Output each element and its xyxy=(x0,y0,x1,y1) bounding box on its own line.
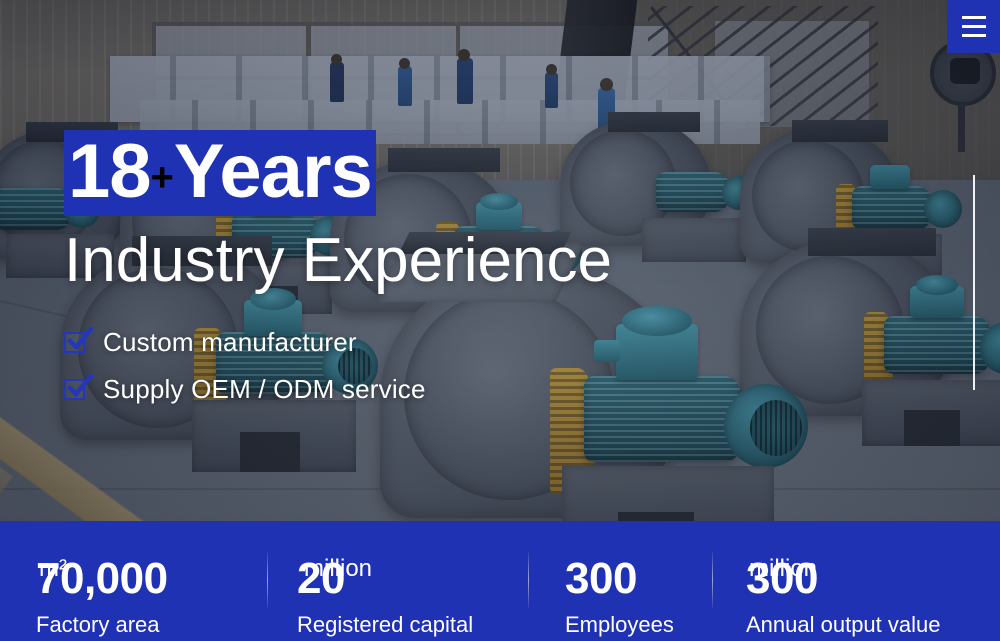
checkbox-checked-icon xyxy=(64,332,85,353)
headline-number: 18 xyxy=(68,134,151,210)
list-item: Custom manufacturer xyxy=(64,327,612,358)
list-item: Supply OEM / ODM service xyxy=(64,374,612,405)
stat-value: 300 xyxy=(565,557,637,601)
hamburger-menu-icon xyxy=(962,16,986,19)
stat-registered-capital: 20 million Registered capital xyxy=(297,557,473,636)
hero-content: 18+Years Industry Experience Custom manu… xyxy=(64,130,612,421)
stat-unit: million xyxy=(749,557,817,581)
stat-label: Annual output value xyxy=(746,614,941,636)
stat-annual-output-value: 300 million Annual output value xyxy=(746,557,941,636)
hamburger-menu-icon xyxy=(962,34,986,37)
list-item-label: Custom manufacturer xyxy=(103,327,357,358)
stat-divider xyxy=(528,551,529,609)
feature-bullet-list: Custom manufacturer Supply OEM / ODM ser… xyxy=(64,327,612,405)
decorative-vertical-line xyxy=(973,175,975,390)
stat-unit: million xyxy=(304,557,372,581)
stat-label: Registered capital xyxy=(297,614,473,636)
list-item-label: Supply OEM / ODM service xyxy=(103,374,426,405)
stat-unit: m² xyxy=(39,557,67,581)
stat-divider xyxy=(267,551,268,609)
stat-employees: 300 Employees xyxy=(565,557,674,636)
hamburger-menu-button[interactable] xyxy=(947,0,1000,53)
stat-label: Factory area xyxy=(36,614,168,636)
hamburger-menu-icon xyxy=(962,25,986,28)
headline-years-highlight: 18+Years xyxy=(64,130,376,216)
stat-label: Employees xyxy=(565,614,674,636)
stat-factory-area: 70,000 m² Factory area xyxy=(36,557,168,636)
stats-bar: 70,000 m² Factory area 20 million Regist… xyxy=(0,521,1000,641)
headline-years: Years xyxy=(174,134,372,210)
hero-banner: 18+Years Industry Experience Custom manu… xyxy=(0,0,1000,641)
headline-subtitle: Industry Experience xyxy=(64,228,612,293)
headline-plus: + xyxy=(151,156,174,200)
checkbox-checked-icon xyxy=(64,379,85,400)
stat-divider xyxy=(712,551,713,609)
